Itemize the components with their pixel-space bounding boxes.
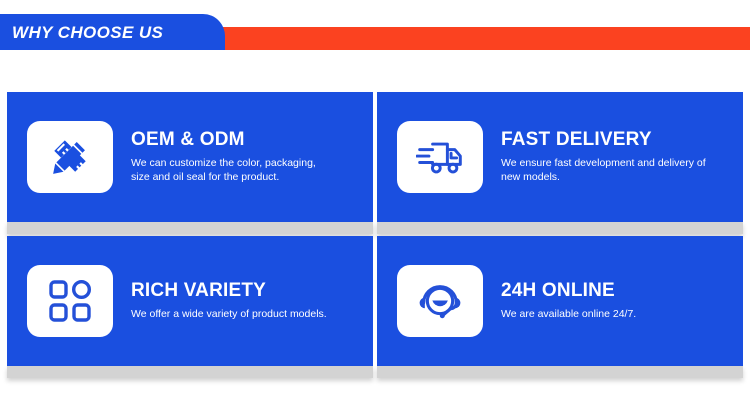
feature-card-body[interactable]: FAST DELIVERY We ensure fast development…	[377, 92, 743, 222]
feature-card-base-shadow	[7, 366, 373, 378]
feature-card[interactable]: FAST DELIVERY We ensure fast development…	[377, 92, 743, 236]
feature-card-title: OEM & ODM	[131, 129, 336, 151]
pencil-ruler-icon	[47, 134, 93, 180]
feature-icon-container	[27, 121, 113, 193]
feature-card-body[interactable]: RICH VARIETY We offer a wide variety of …	[7, 236, 373, 366]
feature-card-base-shadow	[7, 222, 373, 234]
feature-card-text: 24H ONLINE We are available online 24/7.	[501, 280, 636, 321]
feature-card-text: OEM & ODM We can customize the color, pa…	[131, 129, 336, 184]
feature-card[interactable]: RICH VARIETY We offer a wide variety of …	[7, 236, 373, 380]
header-accent-bar	[200, 27, 750, 50]
feature-icon-container	[397, 265, 483, 337]
headset-support-icon	[417, 278, 463, 324]
feature-card-text: FAST DELIVERY We ensure fast development…	[501, 129, 706, 184]
header-banner: WHY CHOOSE US	[0, 14, 225, 50]
feature-card[interactable]: 24H ONLINE We are available online 24/7.	[377, 236, 743, 380]
feature-icon-container	[397, 121, 483, 193]
feature-card-title: FAST DELIVERY	[501, 129, 706, 151]
grid-variety-icon	[48, 279, 92, 323]
feature-card-description: We can customize the color, packaging, s…	[131, 156, 336, 184]
feature-card-body[interactable]: 24H ONLINE We are available online 24/7.	[377, 236, 743, 366]
feature-card-description: We ensure fast development and delivery …	[501, 156, 706, 184]
feature-card-text: RICH VARIETY We offer a wide variety of …	[131, 280, 327, 321]
feature-card-base-shadow	[377, 222, 743, 234]
feature-card-grid: OEM & ODM We can customize the color, pa…	[7, 92, 743, 380]
feature-card[interactable]: OEM & ODM We can customize the color, pa…	[7, 92, 373, 236]
page-title: WHY CHOOSE US	[0, 24, 163, 41]
feature-card-description: We offer a wide variety of product model…	[131, 307, 327, 321]
delivery-truck-icon	[416, 135, 464, 179]
feature-card-title: 24H ONLINE	[501, 280, 636, 302]
feature-card-title: RICH VARIETY	[131, 280, 327, 302]
feature-card-base-shadow	[377, 366, 743, 378]
page-header: WHY CHOOSE US	[0, 0, 750, 60]
feature-card-body[interactable]: OEM & ODM We can customize the color, pa…	[7, 92, 373, 222]
feature-icon-container	[27, 265, 113, 337]
feature-card-description: We are available online 24/7.	[501, 307, 636, 321]
